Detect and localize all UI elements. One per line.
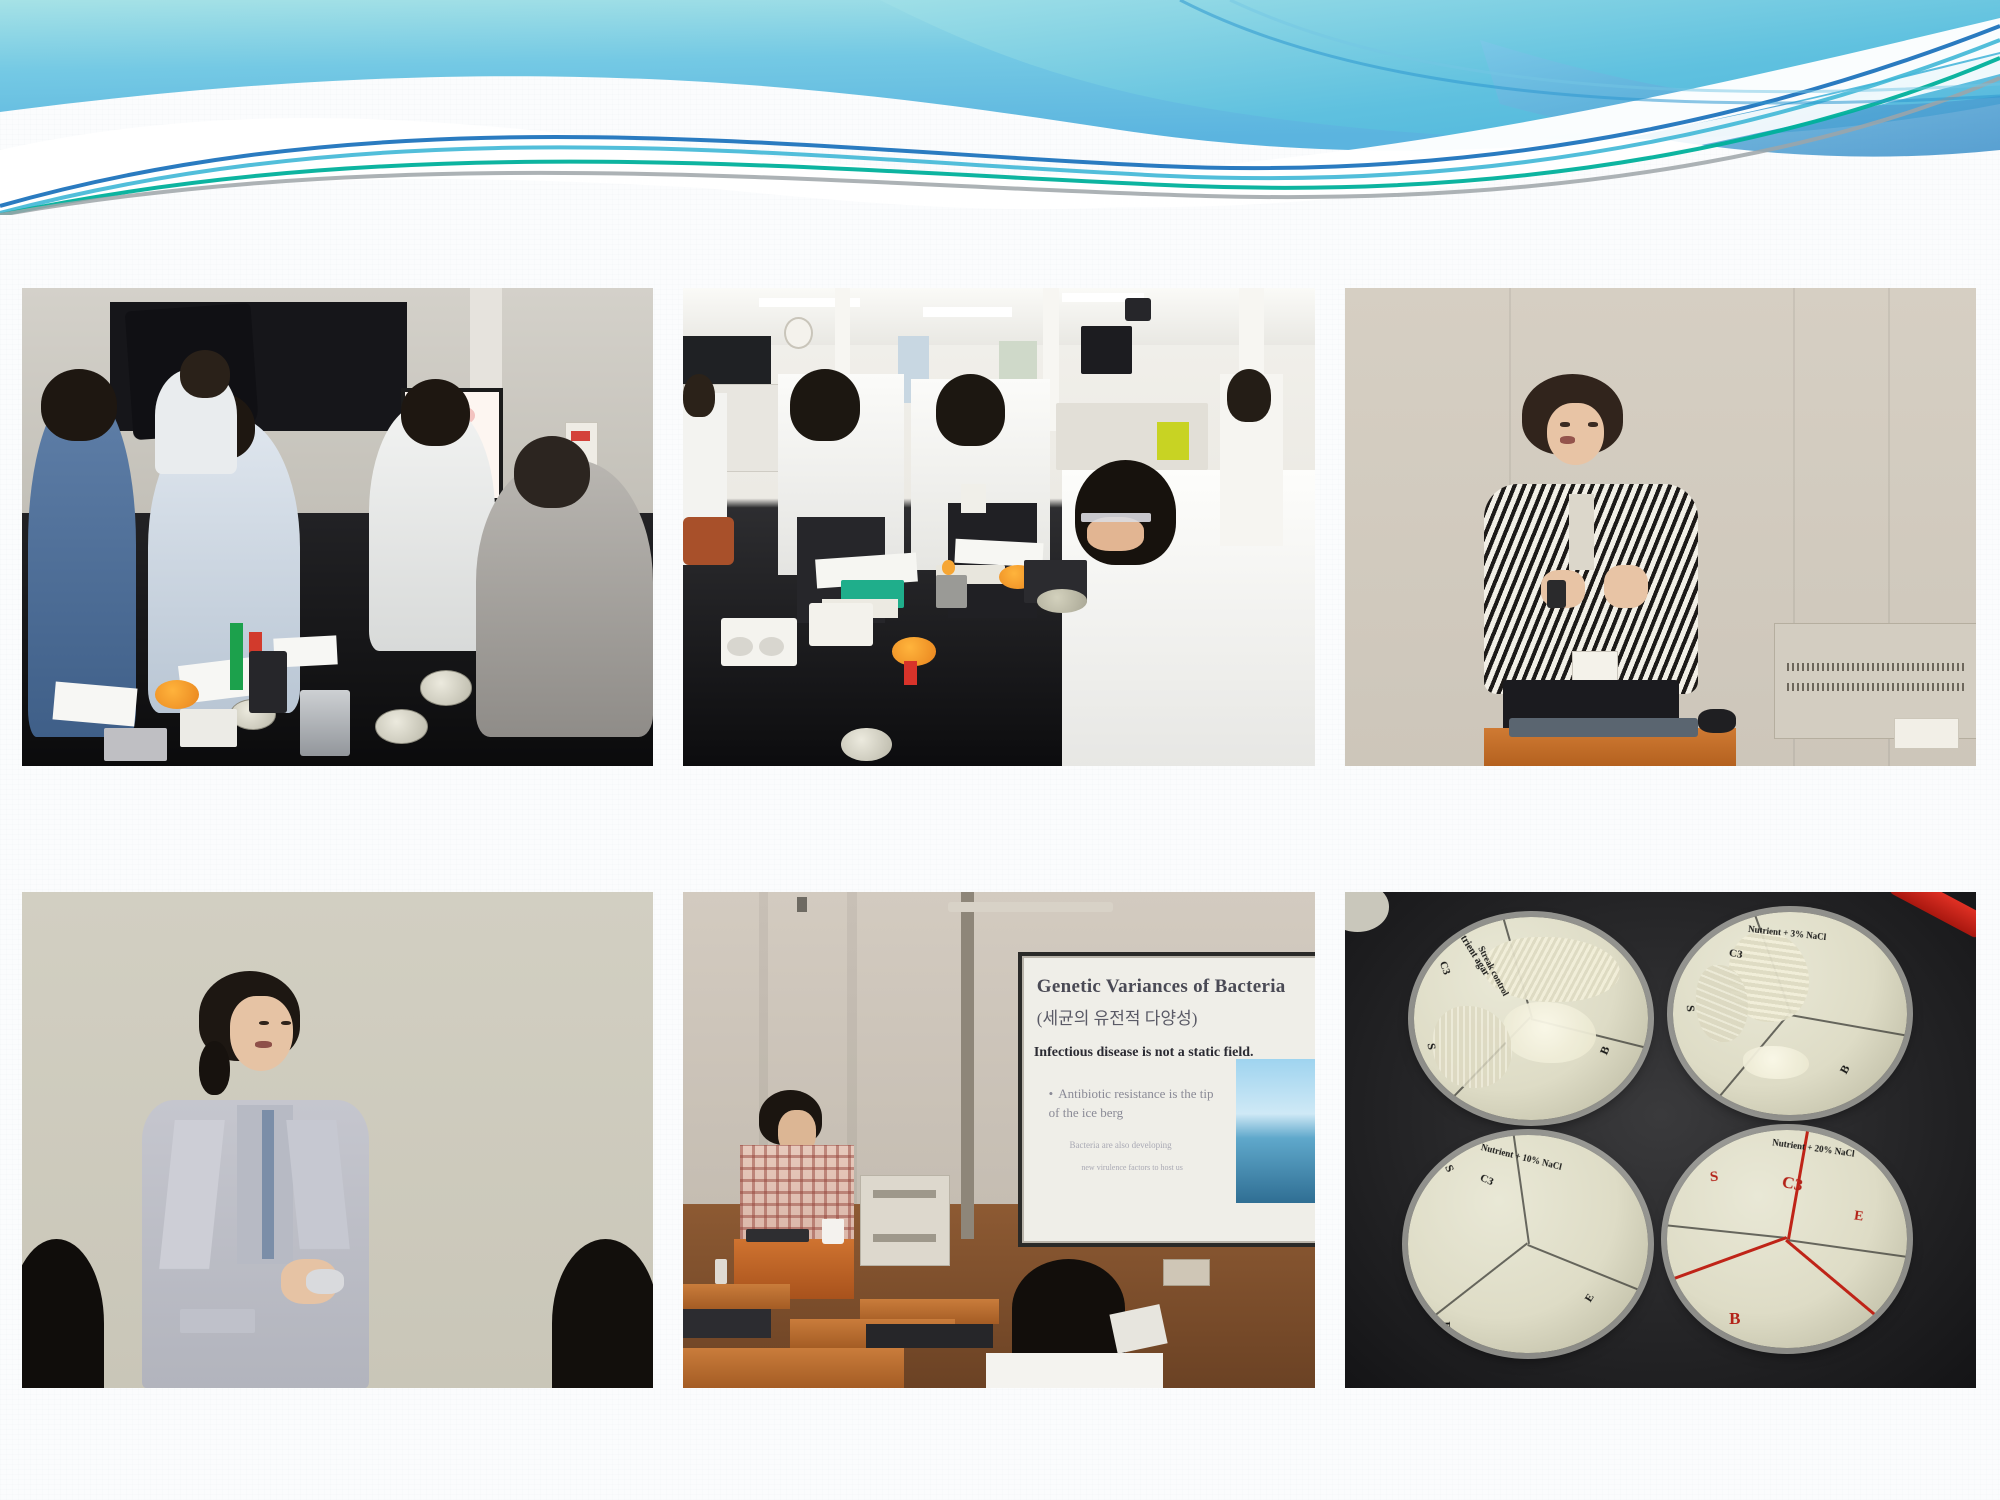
photo-6-image: Nutrient agar Streak control C3 S B: [1345, 892, 1976, 1388]
photo-2-bright-laboratory-practical[interactable]: [683, 288, 1315, 766]
petri-dish-top-left: Nutrient agar Streak control C3 S B: [1414, 917, 1647, 1120]
gallery-gutter: [1315, 288, 1345, 766]
photo-3-image: [1345, 288, 1976, 766]
photo-4-grey-suit-speaker[interactable]: [22, 892, 653, 1388]
projection-screen: Genetic Variances of Bacteria (세균의 유전적 다…: [1018, 952, 1315, 1248]
photo-1-image: [22, 288, 653, 766]
photo-5-image: Genetic Variances of Bacteria (세균의 유전적 다…: [683, 892, 1315, 1388]
projected-slide-title-korean: (세균의 유전적 다양성): [1037, 1004, 1310, 1029]
presentation-slide: Genetic Variances of Bacteria (세균의 유전적 다…: [0, 0, 2000, 1500]
projected-slide-title: Genetic Variances of Bacteria: [1037, 976, 1310, 998]
iceberg-image: [1236, 1059, 1315, 1203]
presenter-remote-icon: [306, 1269, 344, 1294]
projected-slide-bullet-2: Bacteria are also developing: [1069, 1140, 1229, 1150]
photo-4-image: [22, 892, 653, 1388]
photo-6-petri-dish-streak-plates[interactable]: Nutrient agar Streak control C3 S B: [1345, 892, 1976, 1388]
photo-2-image: [683, 288, 1315, 766]
gallery-gutter: [1315, 892, 1345, 1388]
gallery-gutter: [653, 892, 683, 1388]
gallery-row-1: [22, 288, 1978, 766]
gallery-row-gutter: [22, 766, 1978, 892]
petri-dish-bottom-left: Nutrient + 10% NaCl S C3 E B: [1408, 1135, 1648, 1353]
petri-dish-bottom-right: Nutrient + 20% NaCl S C3 E B: [1667, 1130, 1907, 1348]
petri-dish-top-right: Nutrient + 3% NaCl C3 S B: [1673, 912, 1906, 1115]
marker-pen-icon: [1888, 892, 1976, 939]
gallery-row-2: Genetic Variances of Bacteria (세균의 유전적 다…: [22, 892, 1978, 1388]
projected-slide-bullet-1: •Antibiotic resistance is the tip of the…: [1049, 1085, 1227, 1123]
photo-1-lab-bench-demonstration[interactable]: [22, 288, 653, 766]
photo-5-classroom-projection[interactable]: Genetic Variances of Bacteria (세균의 유전적 다…: [683, 892, 1315, 1388]
slide-header-wave-graphic: [0, 0, 2000, 215]
presenter-remote-icon: [1547, 580, 1566, 609]
photo-gallery: Genetic Variances of Bacteria (세균의 유전적 다…: [22, 288, 1978, 1388]
photo-3-podium-lecture[interactable]: [1345, 288, 1976, 766]
projected-slide-bullet-3: new virulence factors to host us: [1081, 1163, 1235, 1172]
gallery-gutter: [653, 288, 683, 766]
